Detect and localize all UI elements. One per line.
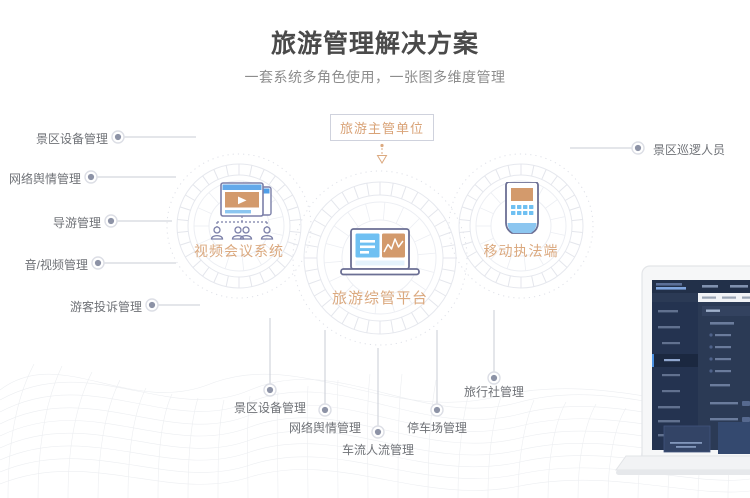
hub-caption-tourism-platform: 旅游综管平台	[292, 287, 468, 308]
video-player-icon	[205, 182, 277, 244]
spoke-label-left-4: 音/视频管理	[0, 256, 88, 273]
handheld-device-icon	[498, 182, 546, 244]
laptop-dashboard-icon	[337, 228, 423, 282]
page-subtitle: 一套系统多角色使用，一张图多维度管理	[0, 67, 750, 87]
spoke-label-left-1: 景区设备管理	[0, 130, 108, 147]
authority-box: 旅游主管单位	[330, 114, 434, 141]
spoke-label-right-1: 景区巡逻人员	[653, 141, 725, 158]
spoke-label-left-3: 导游管理	[0, 214, 101, 231]
spoke-label-bottom-1: 景区设备管理	[226, 399, 314, 416]
hub-caption-video-conference: 视频会议系统	[166, 241, 312, 261]
spoke-label-left-5: 游客投诉管理	[0, 298, 142, 315]
solution-diagram-canvas: 旅游管理解决方案 一套系统多角色使用，一张图多维度管理 旅游主管单位	[0, 0, 750, 498]
spoke-label-left-2: 网络舆情管理	[0, 170, 81, 187]
spoke-label-bottom-2: 网络舆情管理	[281, 419, 369, 436]
laptop-dashboard-mockup	[612, 250, 750, 498]
authority-box-label: 旅游主管单位	[340, 118, 424, 137]
page-title: 旅游管理解决方案	[0, 24, 750, 60]
spoke-label-bottom-4: 停车场管理	[395, 419, 479, 436]
hub-caption-mobile-enforcement: 移动执法端	[448, 241, 594, 261]
spoke-label-bottom-5: 旅行社管理	[452, 383, 536, 400]
authority-down-arrow-icon	[374, 143, 390, 165]
spoke-label-bottom-3: 车流人流管理	[334, 441, 422, 458]
